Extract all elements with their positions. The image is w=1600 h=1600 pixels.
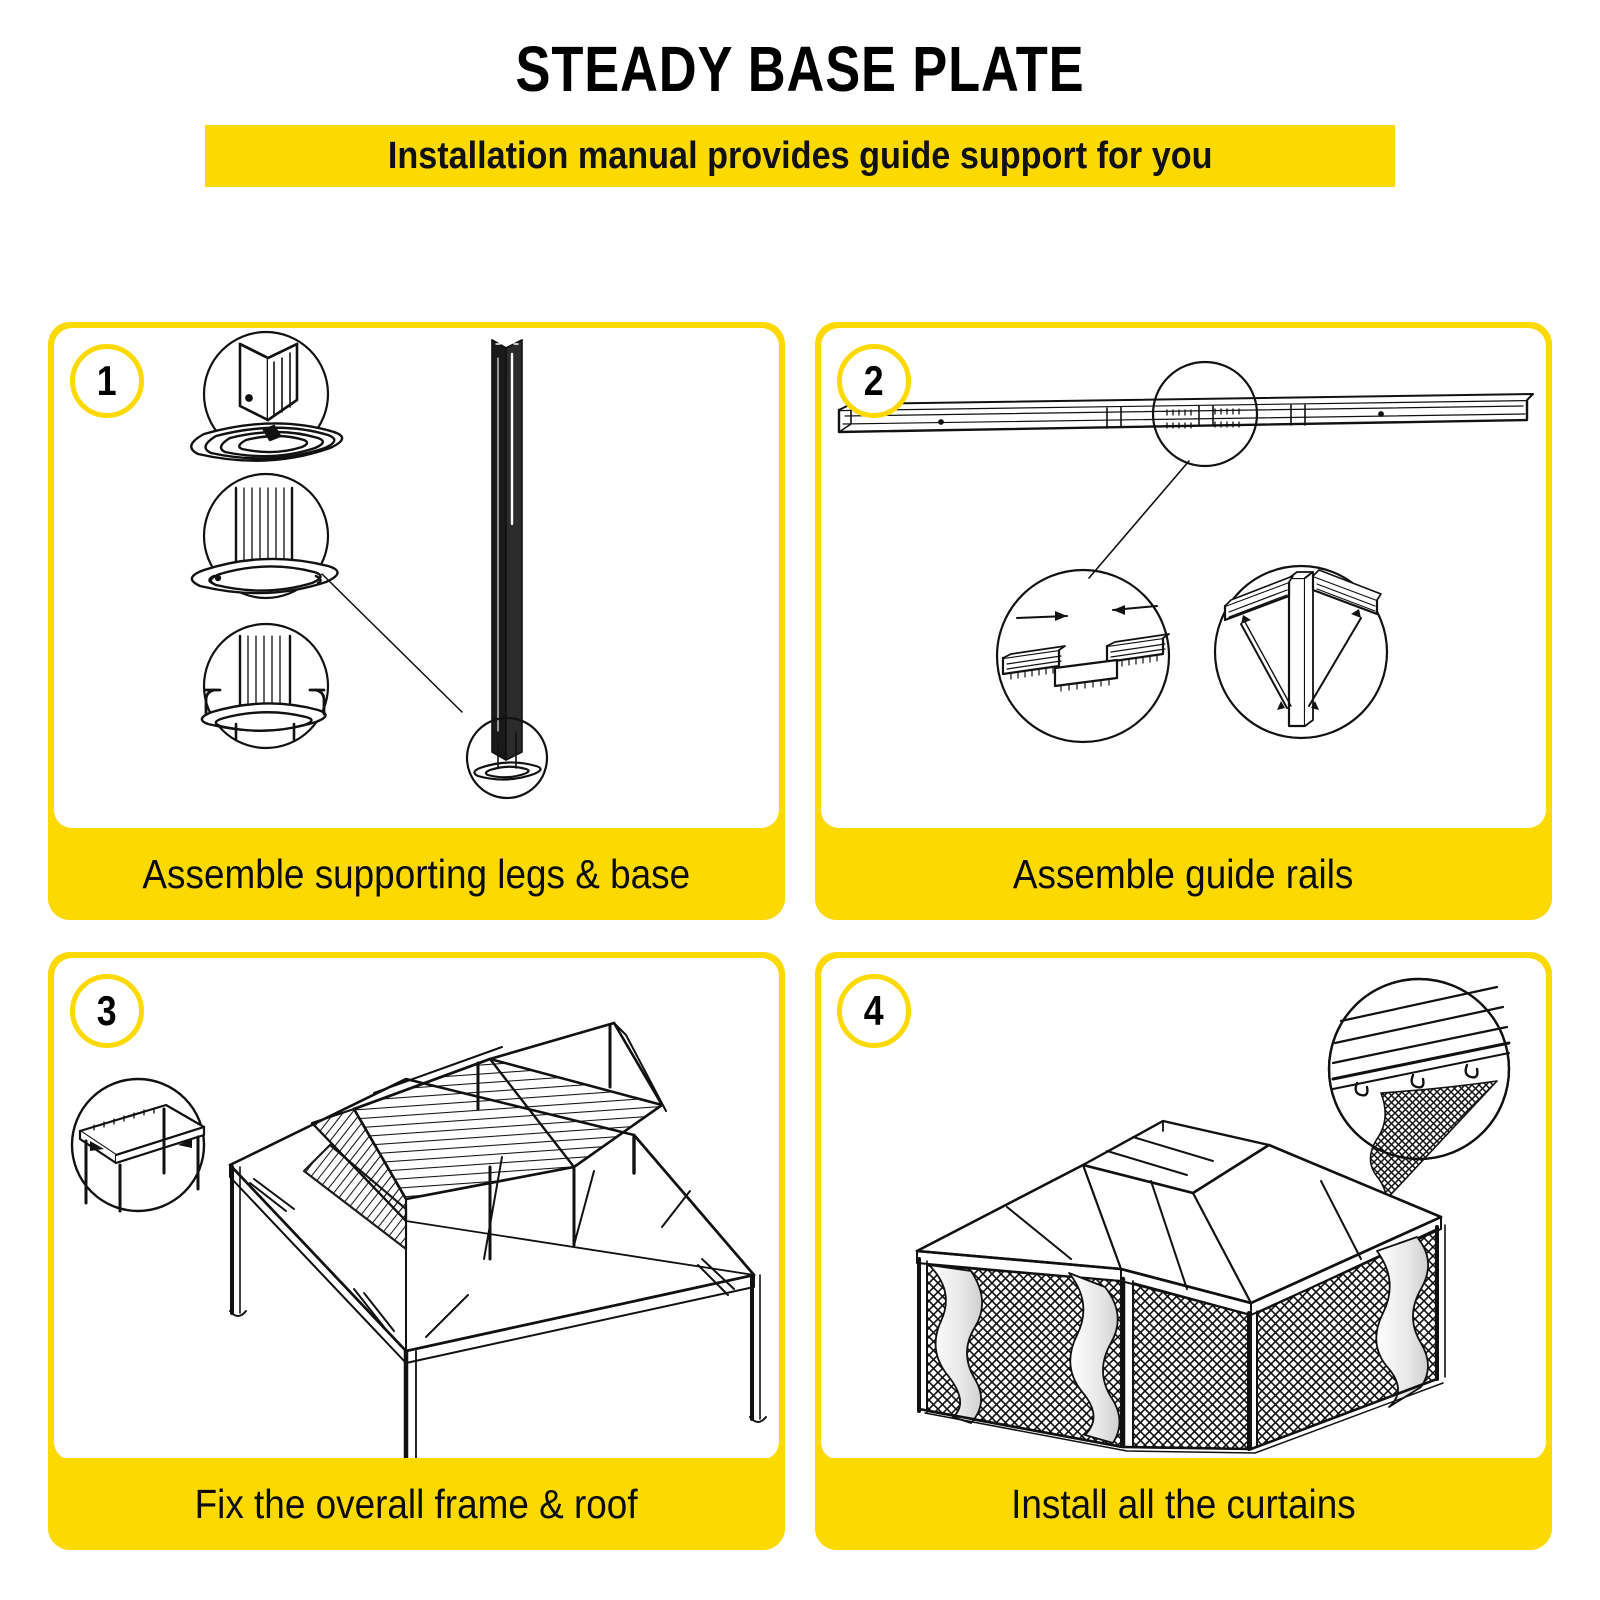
- step-number-4: 4: [864, 990, 884, 1032]
- step-4-illustration: [821, 958, 1546, 1460]
- steps-grid: 1 Assemble supporting legs & base: [48, 322, 1552, 1550]
- step-panel-2: 2 Assemble guide rails: [815, 322, 1552, 920]
- subtitle-text: Installation manual provides guide suppo…: [388, 135, 1213, 178]
- step-1-illustration: [54, 328, 779, 828]
- step-number-3: 3: [97, 990, 117, 1032]
- step-caption-4: Install all the curtains: [815, 1458, 1552, 1550]
- step-caption-1: Assemble supporting legs & base: [48, 828, 785, 920]
- step-3-card: [54, 958, 779, 1460]
- step-1-card: [54, 328, 779, 828]
- step-caption-text-3: Fix the overall frame & roof: [195, 1481, 638, 1528]
- step-badge-4: 4: [837, 974, 911, 1048]
- step-badge-3: 3: [70, 974, 144, 1048]
- installation-manual-page: STEADY BASE PLATE Installation manual pr…: [0, 0, 1600, 1600]
- step-caption-2: Assemble guide rails: [815, 828, 1552, 920]
- step-caption-text-4: Install all the curtains: [1011, 1481, 1356, 1528]
- page-header: STEADY BASE PLATE Installation manual pr…: [0, 0, 1600, 187]
- step-4-card: [821, 958, 1546, 1460]
- subtitle-banner: Installation manual provides guide suppo…: [205, 125, 1395, 187]
- step-badge-2: 2: [837, 344, 911, 418]
- step-caption-text-1: Assemble supporting legs & base: [143, 851, 691, 898]
- step-caption-text-2: Assemble guide rails: [1013, 851, 1353, 898]
- page-title: STEADY BASE PLATE: [144, 36, 1456, 103]
- step-panel-4: 4 Install all the curtains: [815, 952, 1552, 1550]
- step-2-illustration: [821, 328, 1546, 828]
- step-caption-3: Fix the overall frame & roof: [48, 1458, 785, 1550]
- step-panel-3: 3 Fix the overall frame & roof: [48, 952, 785, 1550]
- step-panel-1: 1 Assemble supporting legs & base: [48, 322, 785, 920]
- step-3-illustration: [54, 958, 779, 1460]
- step-badge-1: 1: [70, 344, 144, 418]
- step-number-1: 1: [97, 360, 117, 402]
- step-2-card: [821, 328, 1546, 828]
- step-number-2: 2: [864, 360, 884, 402]
- subtitle-banner-wrap: Installation manual provides guide suppo…: [0, 125, 1600, 187]
